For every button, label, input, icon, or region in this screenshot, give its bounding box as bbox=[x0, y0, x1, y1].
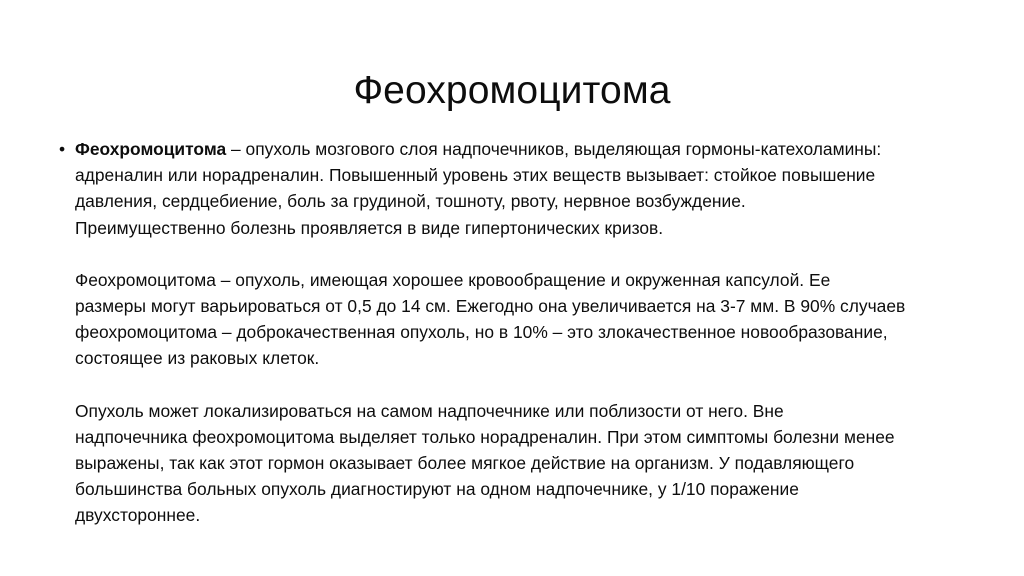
paragraph-1-lead: Феохромоцитома bbox=[75, 139, 226, 159]
paragraph-3-line-4: большинства больных опухоль диагностирую… bbox=[75, 476, 974, 502]
paragraph-1-line-3: давления, сердцебиение, боль за грудиной… bbox=[75, 188, 974, 214]
paragraph-1-line-4: Преимущественно болезнь проявляется в ви… bbox=[75, 215, 974, 241]
paragraph-1-line-2: адреналин или норадреналин. Повышенный у… bbox=[75, 162, 974, 188]
page-title: Феохромоцитома bbox=[0, 68, 1024, 114]
paragraph-3-line-3: выражены, так как этот гормон оказывает … bbox=[75, 450, 974, 476]
paragraph-3-line-1: Опухоль может локализироваться на самом … bbox=[75, 398, 974, 424]
paragraph-3-line-5: двухстороннее. bbox=[75, 502, 974, 528]
paragraph-2-line-3: феохромоцитома – доброкачественная опухо… bbox=[75, 319, 974, 345]
paragraph-2-line-1: Феохромоцитома – опухоль, имеющая хороше… bbox=[75, 267, 974, 293]
body-paragraph-1: • Феохромоцитома – опухоль мозгового сло… bbox=[58, 136, 974, 241]
paragraph-3-text: Опухоль может локализироваться на самом … bbox=[75, 398, 974, 529]
bullet-icon: • bbox=[59, 136, 73, 162]
slide-body: • Феохромоцитома – опухоль мозгового сло… bbox=[58, 136, 974, 529]
paragraph-2-line-2: размеры могут варьироваться от 0,5 до 14… bbox=[75, 293, 974, 319]
body-paragraph-3: Опухоль может локализироваться на самом … bbox=[58, 398, 974, 529]
paragraph-2-line-4: состоящее из раковых клеток. bbox=[75, 345, 974, 371]
paragraph-1-line-1: Феохромоцитома – опухоль мозгового слоя … bbox=[75, 136, 974, 162]
paragraph-2-text: Феохромоцитома – опухоль, имеющая хороше… bbox=[75, 267, 974, 372]
paragraph-1-line-1-rest: – опухоль мозгового слоя надпочечников, … bbox=[226, 139, 881, 159]
slide-canvas: Феохромоцитома • Феохромоцитома – опухол… bbox=[0, 0, 1024, 576]
paragraph-3-line-2: надпочечника феохромоцитома выделяет тол… bbox=[75, 424, 974, 450]
paragraph-1-text: Феохромоцитома – опухоль мозгового слоя … bbox=[75, 136, 974, 241]
body-paragraph-2: Феохромоцитома – опухоль, имеющая хороше… bbox=[58, 267, 974, 372]
